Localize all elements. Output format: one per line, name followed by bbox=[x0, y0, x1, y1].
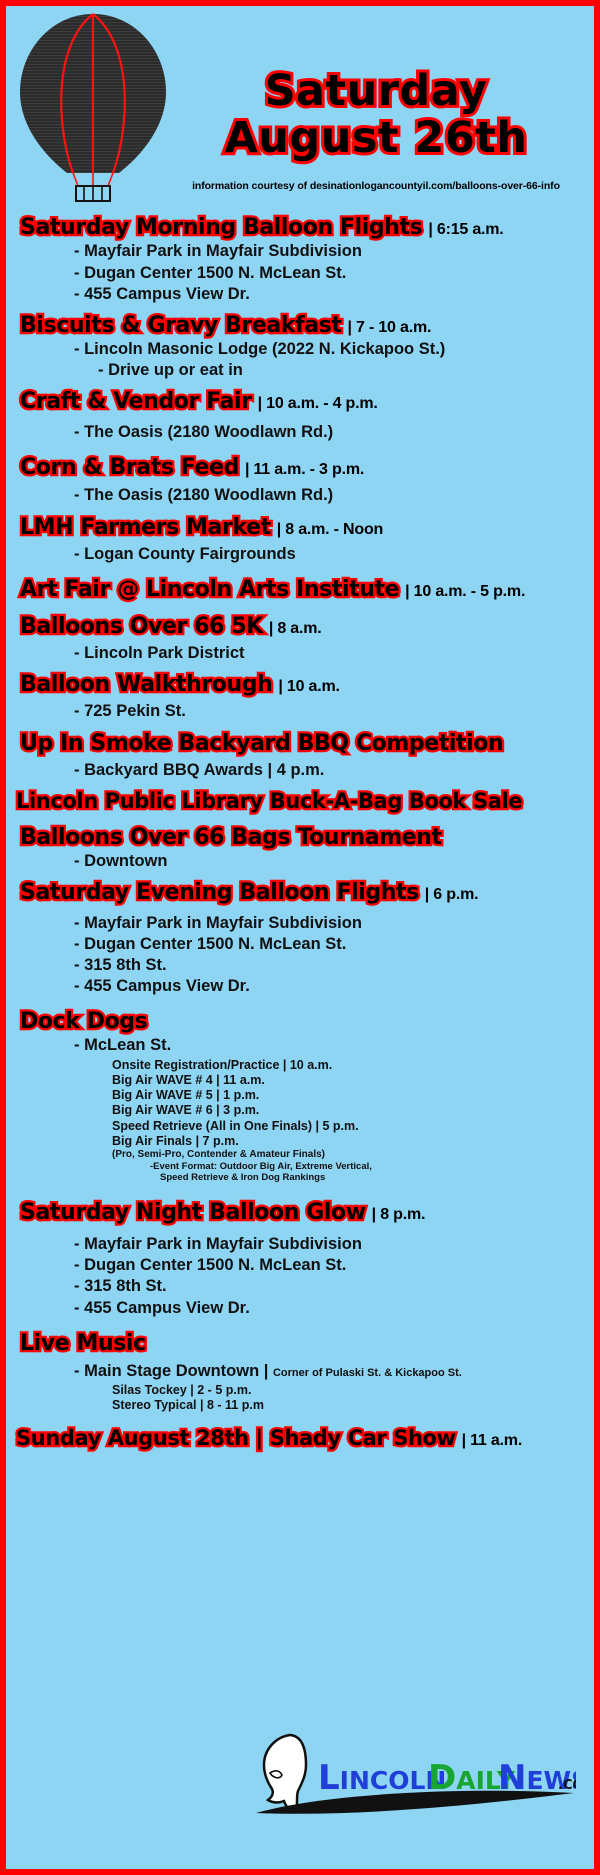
lincoln-daily-news-logo[interactable]: LINCOLN DAILY NEWS .COM bbox=[246, 1727, 576, 1823]
event-time: | 11 a.m. - 3 p.m. bbox=[245, 461, 364, 478]
event-headline: Art Fair @ Lincoln Arts Institute| 10 a.… bbox=[20, 579, 588, 601]
event-detail: - 725 Pekin St. bbox=[74, 701, 588, 722]
event-item: Biscuits & Gravy Breakfast| 7 - 10 a.m. … bbox=[12, 315, 588, 382]
event-headline: Balloons Over 66 Bags Tournament bbox=[20, 827, 588, 849]
event-title: Craft & Vendor Fair bbox=[20, 389, 252, 414]
event-title: Corn & Brats Feed bbox=[20, 455, 239, 480]
event-detail: - Dugan Center 1500 N. McLean St. bbox=[74, 1255, 588, 1276]
event-item: LMH Farmers Market| 8 a.m. - Noon - Loga… bbox=[12, 517, 588, 566]
event-title: Balloons Over 66 5K bbox=[20, 614, 263, 639]
event-item: Saturday Evening Balloon Flights| 6 p.m.… bbox=[12, 882, 588, 997]
event-detail-lines: - Backyard BBQ Awards | 4 p.m. bbox=[12, 760, 588, 781]
event-headline: Saturday Evening Balloon Flights| 6 p.m. bbox=[20, 882, 588, 904]
schedule-item: Big Air WAVE # 5 | 1 p.m. bbox=[112, 1088, 588, 1103]
events-list: Saturday Morning Balloon Flights| 6:15 a… bbox=[6, 217, 594, 1449]
event-headline: LMH Farmers Market| 8 a.m. - Noon bbox=[20, 517, 588, 539]
schedule-item: Big Air WAVE # 4 | 11 a.m. bbox=[112, 1073, 588, 1088]
event-title: Biscuits & Gravy Breakfast bbox=[20, 313, 342, 338]
event-headline: Sunday August 28th | Shady Car Show| 11 … bbox=[16, 1428, 588, 1449]
event-detail-lines: - Downtown bbox=[12, 851, 588, 872]
event-time: | 10 a.m. - 5 p.m. bbox=[405, 583, 525, 600]
poster-header: Saturday August 26th information courtes… bbox=[6, 6, 594, 211]
schedule-item: Onsite Registration/Practice | 10 a.m. bbox=[112, 1058, 588, 1073]
stage-note: Corner of Pulaski St. & Kickapoo St. bbox=[273, 1367, 462, 1379]
logo-text-com: .COM bbox=[558, 1778, 576, 1793]
act-item: Stereo Typical | 8 - 11 p.m bbox=[112, 1398, 588, 1413]
event-title: Up In Smoke Backyard BBQ Competition bbox=[20, 731, 503, 756]
event-detail: - 455 Campus View Dr. bbox=[74, 284, 588, 305]
schedule-item: Big Air WAVE # 6 | 3 p.m. bbox=[112, 1103, 588, 1118]
event-detail: - Lincoln Park District bbox=[74, 643, 588, 664]
event-detail-lines: - 725 Pekin St. bbox=[12, 701, 588, 722]
event-title: Dock Dogs bbox=[20, 1009, 147, 1034]
event-headline: Balloons Over 66 5K| 8 a.m. bbox=[20, 616, 588, 638]
event-title: Saturday Night Balloon Glow bbox=[20, 1200, 366, 1225]
dock-dogs-schedule: Onsite Registration/Practice | 10 a.m. B… bbox=[12, 1058, 588, 1184]
event-detail-lines: - Mayfair Park in Mayfair Subdivision - … bbox=[12, 913, 588, 997]
event-headline: Balloon Walkthrough| 10 a.m. bbox=[20, 674, 588, 696]
event-time: | 8 p.m. bbox=[372, 1206, 426, 1223]
info-credit-line: information courtesy of desinationloganc… bbox=[156, 180, 596, 192]
event-title: Saturday Morning Balloon Flights bbox=[20, 215, 422, 240]
title-line-2: August 26th bbox=[156, 115, 596, 162]
event-item-live-music: Live Music - Main Stage Downtown | Corne… bbox=[12, 1333, 588, 1414]
schedule-item: Speed Retrieve (All in One Finals) | 5 p… bbox=[112, 1119, 588, 1134]
event-detail: - 455 Campus View Dr. bbox=[74, 1298, 588, 1319]
event-item: Craft & Vendor Fair| 10 a.m. - 4 p.m. - … bbox=[12, 391, 588, 443]
event-item: Corn & Brats Feed| 11 a.m. - 3 p.m. - Th… bbox=[12, 457, 588, 507]
event-detail: - The Oasis (2180 Woodlawn Rd.) bbox=[74, 485, 588, 506]
event-item: Balloon Walkthrough| 10 a.m. - 725 Pekin… bbox=[12, 674, 588, 723]
event-item: Lincoln Public Library Buck-A-Bag Book S… bbox=[12, 791, 588, 812]
schedule-item: Big Air Finals | 7 p.m. bbox=[112, 1134, 588, 1149]
event-item: Saturday Morning Balloon Flights| 6:15 a… bbox=[12, 217, 588, 305]
event-detail-lines: - Lincoln Masonic Lodge (2022 N. Kickapo… bbox=[12, 339, 588, 381]
event-item: Balloons Over 66 Bags Tournament - Downt… bbox=[12, 827, 588, 873]
event-headline: Craft & Vendor Fair| 10 a.m. - 4 p.m. bbox=[20, 391, 588, 413]
hot-air-balloon-icon bbox=[18, 10, 168, 205]
event-detail: - 315 8th St. bbox=[74, 955, 588, 976]
event-title: LMH Farmers Market bbox=[20, 515, 271, 540]
event-detail-lines: - Main Stage Downtown | Corner of Pulask… bbox=[12, 1361, 588, 1382]
event-detail-lines: - Lincoln Park District bbox=[12, 643, 588, 664]
event-detail-lines: - Mayfair Park in Mayfair Subdivision - … bbox=[12, 241, 588, 304]
event-title: Live Music bbox=[20, 1331, 146, 1356]
event-headline: Corn & Brats Feed| 11 a.m. - 3 p.m. bbox=[20, 457, 588, 479]
finals-note: (Pro, Semi-Pro, Contender & Amateur Fina… bbox=[112, 1149, 588, 1161]
event-detail: - McLean St. bbox=[74, 1035, 588, 1056]
format-note-line-1: -Event Format: Outdoor Big Air, Extreme … bbox=[150, 1161, 588, 1172]
event-headline: Live Music bbox=[20, 1333, 588, 1355]
event-detail: - Mayfair Park in Mayfair Subdivision bbox=[74, 1234, 588, 1255]
event-headline: Up In Smoke Backyard BBQ Competition bbox=[20, 733, 588, 755]
event-detail-lines: - McLean St. bbox=[12, 1035, 588, 1056]
event-title: Art Fair @ Lincoln Arts Institute bbox=[20, 577, 399, 602]
event-item: Balloons Over 66 5K| 8 a.m. - Lincoln Pa… bbox=[12, 616, 588, 665]
event-headline: Biscuits & Gravy Breakfast| 7 - 10 a.m. bbox=[20, 315, 588, 337]
event-headline: Dock Dogs bbox=[20, 1011, 588, 1033]
poster-footer: LINCOLN DAILY NEWS .COM bbox=[6, 1709, 594, 1869]
format-note-line-2: Speed Retrieve & Iron Dog Rankings bbox=[160, 1172, 588, 1183]
event-detail: - Mayfair Park in Mayfair Subdivision bbox=[74, 241, 588, 262]
event-detail-lines: - Mayfair Park in Mayfair Subdivision - … bbox=[12, 1234, 588, 1318]
event-headline: Saturday Morning Balloon Flights| 6:15 a… bbox=[20, 217, 588, 239]
event-time: | 6:15 a.m. bbox=[428, 221, 503, 238]
event-title: Sunday August 28th | Shady Car Show bbox=[16, 1426, 456, 1450]
act-item: Silas Tockey | 2 - 5 p.m. bbox=[112, 1383, 588, 1398]
event-item-dock-dogs: Dock Dogs - McLean St. Onsite Registrati… bbox=[12, 1011, 588, 1184]
event-title: Saturday Evening Balloon Flights bbox=[20, 880, 419, 905]
event-item-sunday: Sunday August 28th | Shady Car Show| 11 … bbox=[12, 1428, 588, 1449]
event-detail: - 455 Campus View Dr. bbox=[74, 976, 588, 997]
event-detail: - Lincoln Masonic Lodge (2022 N. Kickapo… bbox=[74, 339, 588, 360]
title-line-1: Saturday bbox=[156, 68, 596, 115]
event-time: | 7 - 10 a.m. bbox=[348, 319, 432, 336]
event-time: | 6 p.m. bbox=[425, 886, 479, 903]
event-detail-lines: - The Oasis (2180 Woodlawn Rd.) bbox=[12, 422, 588, 443]
event-headline: Lincoln Public Library Buck-A-Bag Book S… bbox=[16, 791, 588, 812]
event-item: Art Fair @ Lincoln Arts Institute| 10 a.… bbox=[12, 579, 588, 601]
event-time: | 8 a.m. - Noon bbox=[277, 521, 383, 538]
event-detail: - Dugan Center 1500 N. McLean St. bbox=[74, 263, 588, 284]
event-detail-lines: - The Oasis (2180 Woodlawn Rd.) bbox=[12, 485, 588, 506]
event-time: | 10 a.m. bbox=[278, 678, 339, 695]
event-detail: - Drive up or eat in bbox=[98, 360, 588, 381]
event-title: Lincoln Public Library Buck-A-Bag Book S… bbox=[16, 789, 522, 813]
event-item: Up In Smoke Backyard BBQ Competition - B… bbox=[12, 733, 588, 782]
stage-label: - Main Stage Downtown | bbox=[74, 1362, 268, 1380]
event-detail: - Logan County Fairgrounds bbox=[74, 544, 588, 565]
event-headline: Saturday Night Balloon Glow| 8 p.m. bbox=[20, 1202, 588, 1224]
event-item-balloon-glow: Saturday Night Balloon Glow| 8 p.m. - Ma… bbox=[12, 1202, 588, 1319]
event-detail: - 315 8th St. bbox=[74, 1276, 588, 1297]
event-detail-lines: - Logan County Fairgrounds bbox=[12, 544, 588, 565]
event-title: Balloons Over 66 Bags Tournament bbox=[20, 825, 442, 850]
poster-title: Saturday August 26th bbox=[156, 68, 596, 162]
event-time: | 11 a.m. bbox=[462, 1432, 523, 1449]
event-detail: - Downtown bbox=[74, 851, 588, 872]
poster-container: Saturday August 26th information courtes… bbox=[0, 0, 600, 1875]
event-detail: - The Oasis (2180 Woodlawn Rd.) bbox=[74, 422, 588, 443]
live-music-acts: Silas Tockey | 2 - 5 p.m. Stereo Typical… bbox=[12, 1383, 588, 1414]
event-detail: - Dugan Center 1500 N. McLean St. bbox=[74, 934, 588, 955]
event-detail: - Mayfair Park in Mayfair Subdivision bbox=[74, 913, 588, 934]
event-detail: - Backyard BBQ Awards | 4 p.m. bbox=[74, 760, 588, 781]
event-time: | 10 a.m. - 4 p.m. bbox=[258, 395, 378, 412]
event-title: Balloon Walkthrough bbox=[20, 672, 272, 697]
event-detail: - Main Stage Downtown | Corner of Pulask… bbox=[74, 1361, 588, 1382]
event-time: | 8 a.m. bbox=[269, 620, 322, 637]
